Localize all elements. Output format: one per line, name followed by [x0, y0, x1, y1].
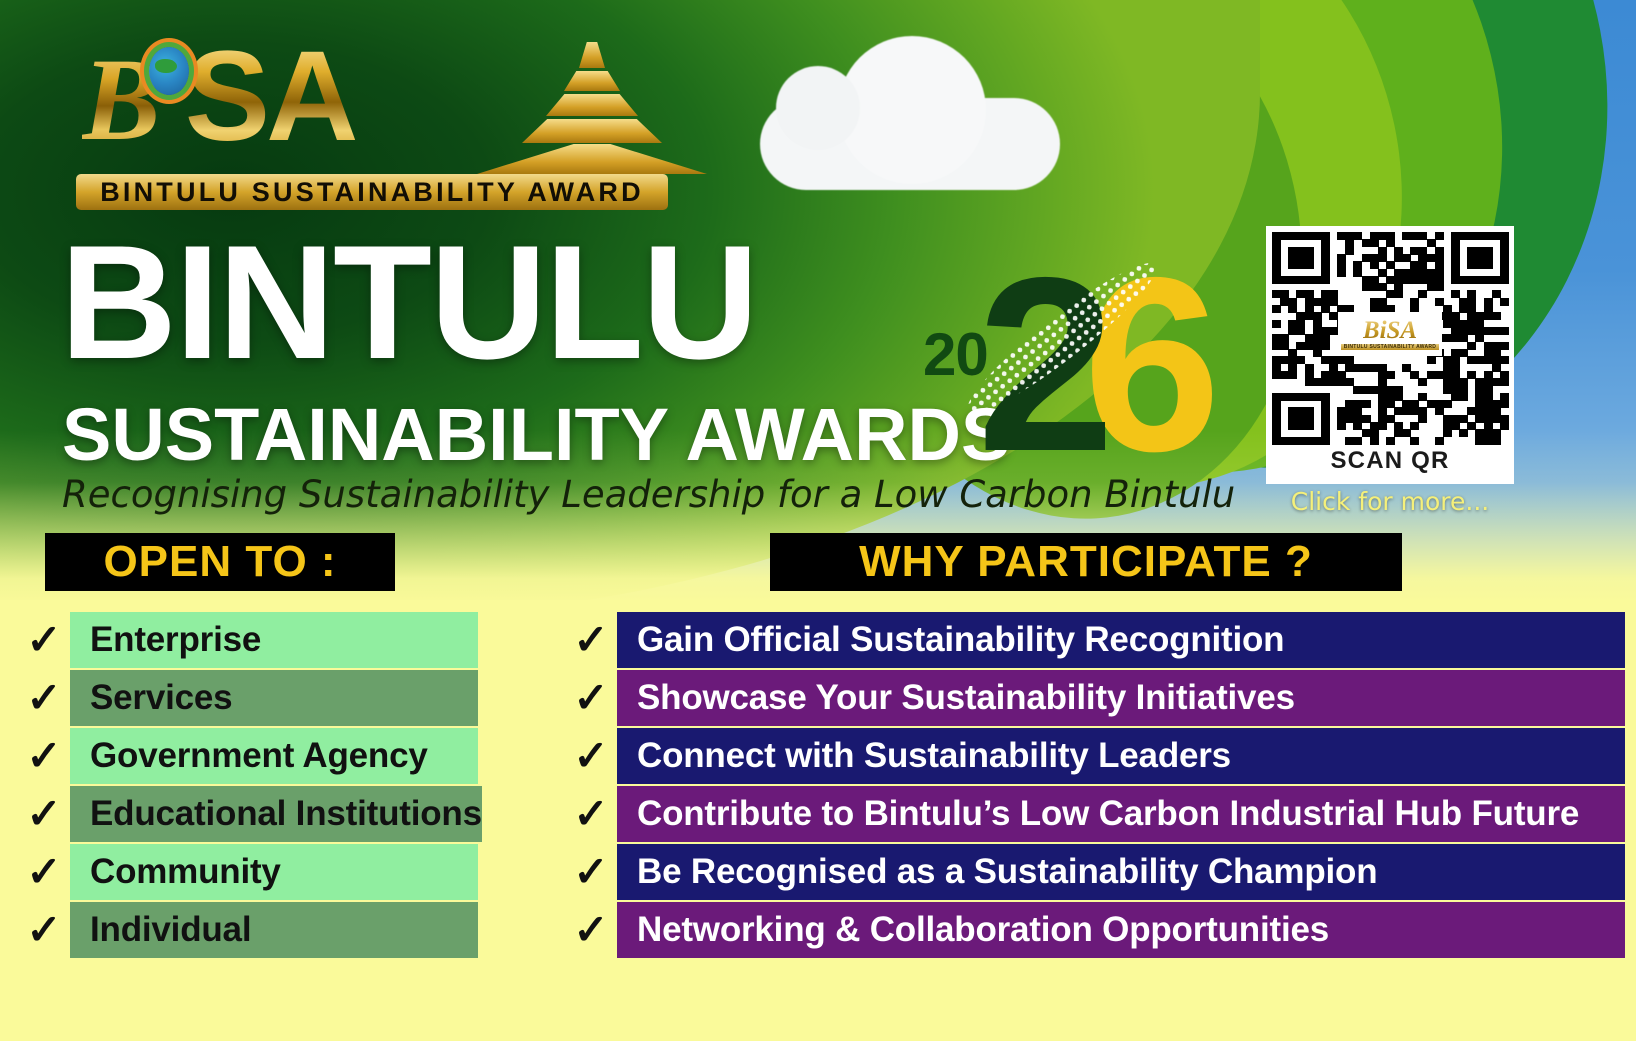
qr-module — [1321, 327, 1330, 335]
qr-module — [1362, 276, 1371, 284]
qr-module — [1321, 371, 1330, 379]
qr-module — [1467, 232, 1476, 240]
why-participate-item-label: Gain Official Sustainability Recognition — [637, 620, 1284, 660]
qr-module — [1345, 232, 1354, 240]
qr-module — [1451, 422, 1460, 430]
qr-module — [1500, 239, 1509, 247]
qr-module — [1321, 415, 1330, 423]
qr-module — [1345, 415, 1354, 423]
qr-module — [1337, 232, 1346, 240]
qr-module — [1386, 261, 1395, 269]
list-item: ✓Government Agency — [18, 728, 478, 784]
qr-module — [1475, 261, 1484, 269]
qr-module — [1321, 239, 1330, 247]
qr-module — [1288, 298, 1297, 306]
qr-module — [1500, 276, 1509, 284]
qr-module — [1345, 356, 1354, 364]
qr-module — [1443, 429, 1452, 437]
qr-module — [1492, 415, 1501, 423]
qr-module — [1418, 247, 1427, 255]
qr-module — [1272, 371, 1281, 379]
qr-module — [1288, 393, 1297, 401]
qr-module — [1467, 298, 1476, 306]
qr-module — [1459, 349, 1468, 357]
qr-module — [1459, 378, 1468, 386]
qr-module — [1427, 400, 1436, 408]
qr-module — [1402, 429, 1411, 437]
qr-module — [1410, 269, 1419, 277]
qr-code-image[interactable]: BiSA BINTULU SUSTAINABILITY AWARD — [1272, 232, 1508, 444]
qr-module — [1451, 371, 1460, 379]
qr-module — [1475, 320, 1484, 328]
qr-module — [1484, 386, 1493, 394]
qr-module — [1484, 356, 1493, 364]
check-icon: ✓ — [565, 902, 617, 958]
qr-module — [1443, 334, 1452, 342]
qr-module — [1272, 437, 1281, 445]
qr-module — [1467, 371, 1476, 379]
why-participate-item-label: Networking & Collaboration Opportunities — [637, 910, 1329, 950]
why-participate-item-label: Showcase Your Sustainability Initiatives — [637, 678, 1295, 718]
qr-module — [1394, 386, 1403, 394]
qr-module — [1435, 276, 1444, 284]
check-icon: ✓ — [18, 786, 70, 842]
qr-module — [1443, 305, 1452, 313]
qr-module — [1443, 422, 1452, 430]
qr-module — [1386, 276, 1395, 284]
qr-module — [1280, 356, 1289, 364]
qr-module — [1451, 312, 1460, 320]
qr-module — [1313, 320, 1322, 328]
qr-module — [1353, 422, 1362, 430]
qr-module — [1378, 386, 1387, 394]
qr-module — [1321, 269, 1330, 277]
qr-module — [1459, 298, 1468, 306]
qr-module — [1272, 247, 1281, 255]
qr-module — [1475, 312, 1484, 320]
qr-module — [1272, 239, 1281, 247]
qr-module — [1305, 334, 1314, 342]
qr-module — [1305, 261, 1314, 269]
qr-module — [1370, 261, 1379, 269]
list-item: ✓Gain Official Sustainability Recognitio… — [565, 612, 1625, 668]
qr-module — [1296, 422, 1305, 430]
qr-module — [1288, 437, 1297, 445]
qr-module — [1272, 364, 1281, 372]
qr-module — [1484, 327, 1493, 335]
qr-module — [1305, 415, 1314, 423]
qr-module — [1321, 378, 1330, 386]
qr-module — [1484, 407, 1493, 415]
qr-module — [1353, 437, 1362, 445]
qr-module — [1296, 232, 1305, 240]
qr-module — [1288, 232, 1297, 240]
why-participate-item-pill: Contribute to Bintulu’s Low Carbon Indus… — [617, 786, 1625, 842]
qr-module — [1321, 356, 1330, 364]
qr-logo-mark: BiSA — [1363, 318, 1417, 343]
qr-module — [1492, 232, 1501, 240]
qr-module — [1451, 232, 1460, 240]
qr-module — [1321, 393, 1330, 401]
qr-module — [1467, 290, 1476, 298]
qr-module — [1410, 276, 1419, 284]
qr-module — [1443, 415, 1452, 423]
tower-tier-3 — [546, 94, 638, 116]
qr-module — [1313, 232, 1322, 240]
qr-module — [1402, 269, 1411, 277]
qr-module — [1305, 232, 1314, 240]
qr-module — [1345, 400, 1354, 408]
qr-module — [1459, 415, 1468, 423]
qr-module — [1459, 320, 1468, 328]
qr-module — [1305, 298, 1314, 306]
qr-module — [1378, 269, 1387, 277]
qr-module — [1362, 283, 1371, 291]
bisa-logo: B SA BINTULU SUSTAINABILITY AWARD — [72, 22, 672, 212]
qr-module — [1386, 239, 1395, 247]
qr-module — [1305, 276, 1314, 284]
qr-module — [1435, 407, 1444, 415]
open-to-item-label: Individual — [90, 910, 251, 950]
qr-module — [1484, 422, 1493, 430]
qr-module — [1484, 342, 1493, 350]
qr-module — [1394, 269, 1403, 277]
qr-module — [1337, 407, 1346, 415]
qr-module — [1451, 247, 1460, 255]
qr-module — [1484, 371, 1493, 379]
qr-module — [1280, 276, 1289, 284]
qr-module — [1288, 356, 1297, 364]
qr-module — [1410, 407, 1419, 415]
qr-module — [1288, 364, 1297, 372]
why-participate-item-label: Be Recognised as a Sustainability Champi… — [637, 852, 1377, 892]
year-graphic: 6 2 20 — [905, 235, 1225, 485]
qr-module — [1353, 407, 1362, 415]
qr-module — [1386, 437, 1395, 445]
qr-module — [1475, 327, 1484, 335]
qr-module — [1492, 400, 1501, 408]
qr-module — [1345, 364, 1354, 372]
why-participate-banner: WHY PARTICIPATE ? — [770, 533, 1402, 591]
qr-module — [1272, 232, 1281, 240]
qr-module — [1435, 400, 1444, 408]
qr-module — [1345, 247, 1354, 255]
qr-module — [1280, 437, 1289, 445]
list-item: ✓Networking & Collaboration Opportunitie… — [565, 902, 1625, 958]
qr-module — [1467, 342, 1476, 350]
qr-module — [1370, 232, 1379, 240]
qr-module — [1500, 356, 1509, 364]
tower-tier-4 — [522, 119, 662, 143]
qr-module — [1451, 327, 1460, 335]
open-to-item-label: Enterprise — [90, 620, 261, 660]
qr-module — [1362, 415, 1371, 423]
qr-code-card[interactable]: BiSA BINTULU SUSTAINABILITY AWARD SCAN Q… — [1266, 226, 1514, 484]
qr-module — [1386, 386, 1395, 394]
qr-module — [1362, 386, 1371, 394]
qr-module — [1321, 247, 1330, 255]
qr-module — [1492, 349, 1501, 357]
tower-tier-2 — [564, 71, 620, 91]
cloud-icon — [760, 98, 1060, 190]
qr-module — [1451, 261, 1460, 269]
qr-module — [1345, 407, 1354, 415]
qr-module — [1443, 320, 1452, 328]
qr-module — [1435, 232, 1444, 240]
tower-tier-5 — [477, 144, 707, 174]
qr-module — [1305, 312, 1314, 320]
qr-module — [1443, 378, 1452, 386]
qr-module — [1435, 269, 1444, 277]
qr-module — [1370, 254, 1379, 262]
qr-module — [1451, 364, 1460, 372]
qr-module — [1313, 393, 1322, 401]
qr-module — [1459, 305, 1468, 313]
logo-letters-isa: SA — [185, 33, 355, 161]
qr-module — [1296, 312, 1305, 320]
qr-module — [1475, 276, 1484, 284]
qr-module — [1353, 269, 1362, 277]
qr-module — [1435, 283, 1444, 291]
qr-module — [1443, 400, 1452, 408]
qr-module — [1475, 415, 1484, 423]
list-item: ✓Showcase Your Sustainability Initiative… — [565, 670, 1625, 726]
check-icon: ✓ — [18, 902, 70, 958]
open-to-item-pill: Individual — [70, 902, 478, 958]
qr-module — [1459, 429, 1468, 437]
qr-module — [1272, 429, 1281, 437]
qr-module — [1305, 437, 1314, 445]
tower-icon — [472, 40, 712, 170]
page-subtitle: SUSTAINABILITY AWARDS — [62, 398, 1010, 472]
qr-module — [1329, 290, 1338, 298]
qr-module — [1500, 254, 1509, 262]
qr-module — [1418, 393, 1427, 401]
qr-module — [1386, 393, 1395, 401]
qr-module — [1443, 312, 1452, 320]
qr-module — [1492, 437, 1501, 445]
qr-module — [1410, 400, 1419, 408]
qr-module — [1362, 429, 1371, 437]
qr-module — [1362, 400, 1371, 408]
qr-module — [1451, 356, 1460, 364]
qr-module — [1313, 312, 1322, 320]
qr-module — [1427, 371, 1436, 379]
qr-module — [1378, 364, 1387, 372]
qr-module — [1329, 371, 1338, 379]
qr-module — [1475, 386, 1484, 394]
qr-module — [1288, 407, 1297, 415]
qr-module — [1321, 261, 1330, 269]
tower-tier-1 — [579, 42, 605, 68]
check-icon: ✓ — [565, 612, 617, 668]
qr-module — [1386, 290, 1395, 298]
qr-module — [1467, 327, 1476, 335]
list-item: ✓Services — [18, 670, 478, 726]
qr-module — [1500, 298, 1509, 306]
qr-module — [1492, 364, 1501, 372]
qr-module — [1337, 378, 1346, 386]
qr-module — [1353, 261, 1362, 269]
check-icon: ✓ — [565, 728, 617, 784]
qr-module — [1410, 261, 1419, 269]
qr-module — [1313, 334, 1322, 342]
qr-module — [1345, 437, 1354, 445]
qr-module — [1451, 334, 1460, 342]
qr-module — [1467, 407, 1476, 415]
qr-module — [1459, 386, 1468, 394]
qr-module — [1475, 393, 1484, 401]
qr-module — [1418, 407, 1427, 415]
qr-module — [1288, 276, 1297, 284]
qr-module — [1475, 356, 1484, 364]
qr-module — [1418, 378, 1427, 386]
qr-module — [1288, 415, 1297, 423]
qr-module — [1370, 422, 1379, 430]
qr-module — [1492, 378, 1501, 386]
qr-module — [1500, 342, 1509, 350]
logo-badge: BINTULU SUSTAINABILITY AWARD — [76, 174, 668, 210]
why-participate-item-pill: Networking & Collaboration Opportunities — [617, 902, 1625, 958]
qr-module — [1296, 393, 1305, 401]
qr-module — [1353, 400, 1362, 408]
qr-module — [1394, 429, 1403, 437]
open-to-list: ✓Enterprise✓Services✓Government Agency✓E… — [18, 612, 478, 960]
qr-module — [1272, 400, 1281, 408]
qr-module — [1345, 239, 1354, 247]
logo-badge-text: BINTULU SUSTAINABILITY AWARD — [100, 177, 644, 208]
qr-module — [1386, 415, 1395, 423]
qr-module — [1329, 356, 1338, 364]
list-item: ✓Enterprise — [18, 612, 478, 668]
qr-module — [1451, 320, 1460, 328]
qr-module — [1459, 232, 1468, 240]
qr-module — [1386, 371, 1395, 379]
list-item: ✓Contribute to Bintulu’s Low Carbon Indu… — [565, 786, 1625, 842]
qr-module — [1321, 407, 1330, 415]
qr-module — [1451, 393, 1460, 401]
qr-module — [1313, 378, 1322, 386]
qr-module — [1394, 283, 1403, 291]
list-item: ✓Be Recognised as a Sustainability Champ… — [565, 844, 1625, 900]
qr-module — [1288, 247, 1297, 255]
qr-module — [1402, 232, 1411, 240]
qr-module — [1451, 269, 1460, 277]
qr-module — [1329, 312, 1338, 320]
qr-module — [1305, 342, 1314, 350]
qr-module — [1394, 393, 1403, 401]
qr-module — [1443, 386, 1452, 394]
qr-module — [1378, 254, 1387, 262]
qr-module — [1296, 276, 1305, 284]
open-to-item-label: Government Agency — [90, 736, 428, 776]
qr-module — [1321, 422, 1330, 430]
qr-module — [1288, 254, 1297, 262]
why-participate-item-pill: Connect with Sustainability Leaders — [617, 728, 1625, 784]
qr-module — [1500, 415, 1509, 423]
qr-module — [1321, 437, 1330, 445]
open-to-item-label: Community — [90, 852, 281, 892]
qr-module — [1492, 327, 1501, 335]
qr-module — [1451, 378, 1460, 386]
qr-module — [1418, 261, 1427, 269]
qr-module — [1288, 305, 1297, 313]
qr-module — [1280, 298, 1289, 306]
qr-module — [1313, 349, 1322, 357]
logo-letter-b: B — [82, 41, 161, 159]
qr-module — [1467, 422, 1476, 430]
qr-module — [1394, 422, 1403, 430]
qr-module — [1378, 400, 1387, 408]
qr-module — [1467, 276, 1476, 284]
qr-module — [1484, 378, 1493, 386]
page-title: BINTULU — [60, 222, 757, 384]
qr-module — [1467, 356, 1476, 364]
qr-module — [1305, 247, 1314, 255]
qr-module — [1305, 371, 1314, 379]
list-item: ✓Educational Institutions — [18, 786, 478, 842]
qr-module — [1484, 276, 1493, 284]
qr-module — [1427, 276, 1436, 284]
qr-module — [1296, 437, 1305, 445]
qr-module — [1313, 437, 1322, 445]
qr-module — [1459, 327, 1468, 335]
qr-module — [1402, 276, 1411, 284]
globe-icon — [149, 47, 189, 95]
qr-module — [1500, 247, 1509, 255]
qr-module — [1475, 400, 1484, 408]
qr-module — [1394, 276, 1403, 284]
check-icon: ✓ — [18, 728, 70, 784]
qr-module — [1305, 393, 1314, 401]
qr-module — [1492, 276, 1501, 284]
qr-module — [1337, 371, 1346, 379]
check-icon: ✓ — [565, 670, 617, 726]
qr-module — [1370, 437, 1379, 445]
qr-module — [1337, 422, 1346, 430]
qr-module — [1475, 429, 1484, 437]
open-to-banner-label: OPEN TO : — [103, 537, 336, 587]
qr-module — [1370, 283, 1379, 291]
qr-module — [1402, 364, 1411, 372]
qr-module — [1296, 247, 1305, 255]
qr-module — [1272, 269, 1281, 277]
qr-module — [1296, 342, 1305, 350]
check-icon: ✓ — [565, 844, 617, 900]
qr-module — [1427, 283, 1436, 291]
qr-click-link[interactable]: Click for more... — [1266, 487, 1514, 516]
qr-module — [1296, 356, 1305, 364]
qr-module — [1475, 232, 1484, 240]
qr-module — [1467, 247, 1476, 255]
qr-module — [1321, 298, 1330, 306]
qr-module — [1402, 407, 1411, 415]
qr-module — [1370, 298, 1379, 306]
qr-module — [1321, 429, 1330, 437]
qr-module — [1272, 320, 1281, 328]
qr-module — [1378, 415, 1387, 423]
qr-module — [1296, 415, 1305, 423]
qr-module — [1410, 247, 1419, 255]
poster-root: B SA BINTULU SUSTAINABILITY AWARD BINTUL… — [0, 0, 1636, 1041]
qr-module — [1272, 254, 1281, 262]
qr-module — [1337, 269, 1346, 277]
why-participate-item-pill: Showcase Your Sustainability Initiatives — [617, 670, 1625, 726]
qr-module — [1427, 254, 1436, 262]
qr-module — [1484, 415, 1493, 423]
qr-module — [1305, 422, 1314, 430]
qr-module — [1467, 312, 1476, 320]
